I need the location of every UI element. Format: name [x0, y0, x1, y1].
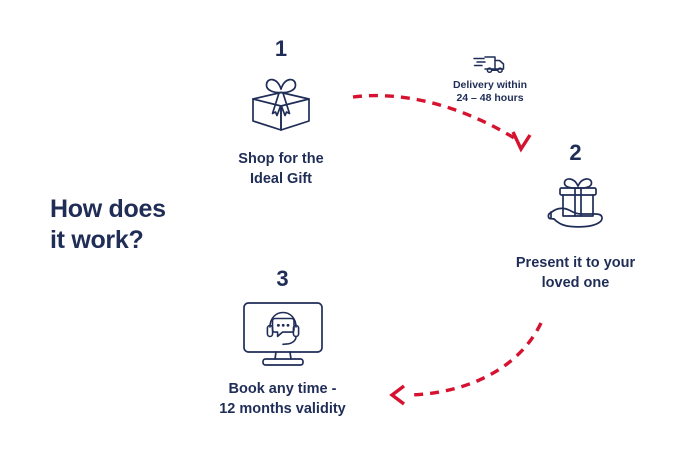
step-1-number: 1 [206, 38, 356, 60]
step-1-caption: Shop for the Ideal Gift [206, 150, 356, 189]
delivery-note: Delivery within 24 – 48 hours [432, 52, 548, 106]
step-1: 1 Shop for the Ideal Gift [206, 38, 356, 189]
step-3-caption: Book any time - 12 months validity [205, 380, 360, 419]
step-1-caption-line-1: Shop for the [206, 150, 356, 170]
support-monitor-icon [236, 298, 330, 368]
page-title: How does it work? [50, 194, 230, 255]
delivery-note-line-1: Delivery within [432, 79, 548, 92]
delivery-truck-icon [473, 52, 507, 76]
step-2-caption: Present it to your loved one [498, 254, 653, 293]
step-3-number: 3 [205, 268, 360, 290]
gift-in-hand-icon [532, 172, 620, 242]
gift-box-icon [242, 68, 320, 138]
step-3-caption-line-1: Book any time - [205, 380, 360, 400]
arrow-step2-to-step3 [392, 323, 541, 404]
step-3-caption-line-2: 12 months validity [205, 400, 360, 420]
step-1-caption-line-2: Ideal Gift [206, 170, 356, 190]
infographic-canvas: How does it work? [0, 0, 700, 457]
step-3: 3 [205, 268, 360, 419]
page-title-line-2: it work? [50, 225, 230, 256]
step-2-number: 2 [498, 142, 653, 164]
step-2: 2 Present it to your lov [498, 142, 653, 293]
delivery-note-line-2: 24 – 48 hours [432, 92, 548, 105]
delivery-note-text: Delivery within 24 – 48 hours [432, 79, 548, 106]
step-2-caption-line-1: Present it to your [498, 254, 653, 274]
step-2-caption-line-2: loved one [498, 274, 653, 294]
page-title-line-1: How does [50, 194, 230, 225]
